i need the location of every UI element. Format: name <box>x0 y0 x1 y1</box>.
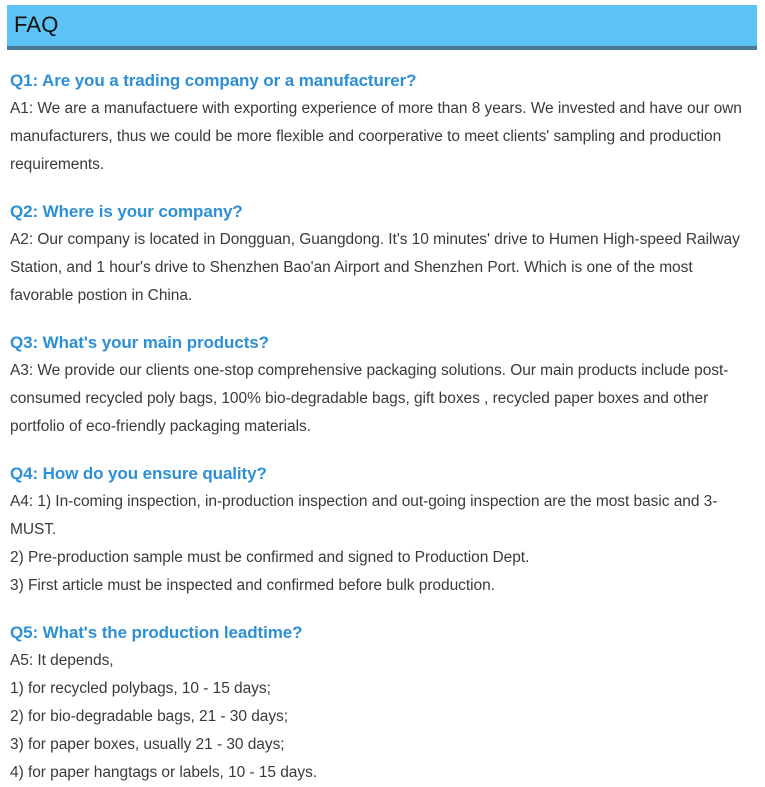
faq-answer-line: A3: We provide our clients one-stop comp… <box>10 357 752 441</box>
faq-item: Q4: How do you ensure quality?A4: 1) In-… <box>10 461 752 600</box>
faq-answer: A1: We are a manufactuere with exporting… <box>10 95 752 179</box>
faq-question: Q5: What's the production leadtime? <box>10 620 752 646</box>
faq-answer-line: A5: It depends, <box>10 647 752 675</box>
faq-answer-line: 3) for paper boxes, usually 21 - 30 days… <box>10 731 752 759</box>
faq-answer: A5: It depends,1) for recycled polybags,… <box>10 647 752 787</box>
faq-answer-line: A1: We are a manufactuere with exporting… <box>10 95 752 179</box>
faq-item: Q5: What's the production leadtime?A5: I… <box>10 620 752 787</box>
faq-question: Q4: How do you ensure quality? <box>10 461 752 487</box>
faq-answer: A4: 1) In-coming inspection, in-producti… <box>10 488 752 600</box>
faq-answer-line: 2) for bio-degradable bags, 21 - 30 days… <box>10 703 752 731</box>
faq-question: Q3: What's your main products? <box>10 330 752 356</box>
faq-answer-line: A4: 1) In-coming inspection, in-producti… <box>10 488 752 544</box>
faq-answer-line: 1) for recycled polybags, 10 - 15 days; <box>10 675 752 703</box>
faq-answer: A3: We provide our clients one-stop comp… <box>10 357 752 441</box>
faq-answer-line: 2) Pre-production sample must be confirm… <box>10 544 752 572</box>
faq-question: Q1: Are you a trading company or a manuf… <box>10 68 752 94</box>
faq-answer-line: A2: Our company is located in Dongguan, … <box>10 226 752 310</box>
faq-answer-line: 3) First article must be inspected and c… <box>10 572 752 600</box>
faq-answer: A2: Our company is located in Dongguan, … <box>10 226 752 310</box>
faq-list: Q1: Are you a trading company or a manuf… <box>10 68 752 787</box>
faq-item: Q3: What's your main products?A3: We pro… <box>10 330 752 441</box>
faq-item: Q1: Are you a trading company or a manuf… <box>10 68 752 179</box>
faq-answer-line: 4) for paper hangtags or labels, 10 - 15… <box>10 759 752 787</box>
faq-page: FAQ Q1: Are you a trading company or a m… <box>0 0 765 748</box>
page-title: FAQ <box>14 12 59 38</box>
faq-item: Q2: Where is your company?A2: Our compan… <box>10 199 752 310</box>
faq-header-banner: FAQ <box>7 5 757 50</box>
faq-question: Q2: Where is your company? <box>10 199 752 225</box>
